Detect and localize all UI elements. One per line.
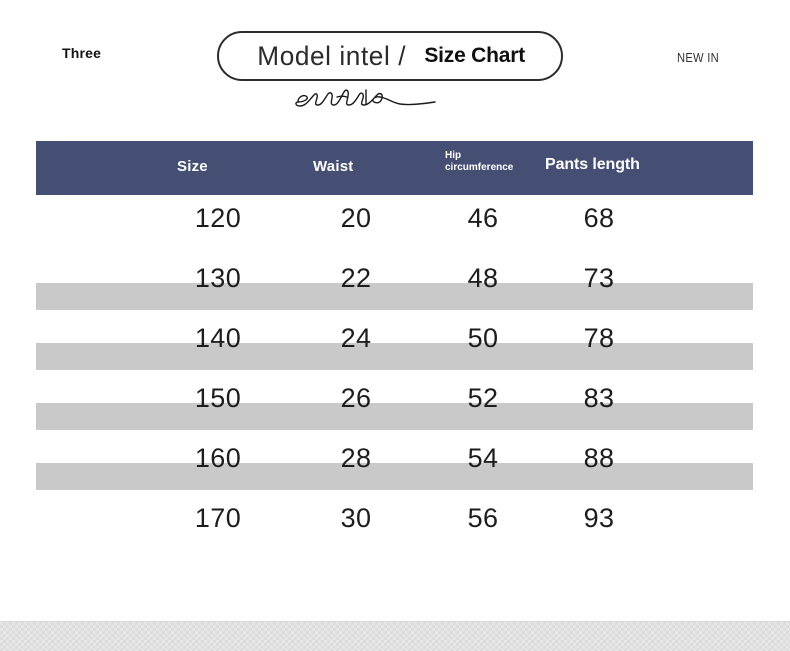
title-pill-badge: Model intel / Size Chart xyxy=(217,31,563,81)
cell-hip-circumference: 48 xyxy=(448,263,518,294)
cell-waist: 28 xyxy=(321,443,391,474)
cell-pants-length: 83 xyxy=(564,383,634,414)
cell-size: 130 xyxy=(170,263,266,294)
column-header-hip-line2: circumference xyxy=(445,162,513,174)
cell-size: 150 xyxy=(170,383,266,414)
size-chart-page: Three Model intel / Size Chart NEW IN Si… xyxy=(0,0,790,651)
cell-pants-length: 93 xyxy=(564,503,634,534)
cell-hip-circumference: 52 xyxy=(448,383,518,414)
cell-pants-length: 78 xyxy=(564,323,634,354)
table-header-row: Size Waist Hip circumference Pants lengt… xyxy=(36,141,753,195)
cell-waist: 20 xyxy=(321,203,391,234)
cell-hip-circumference: 54 xyxy=(448,443,518,474)
title-light-text: Model intel / xyxy=(257,41,406,72)
column-header-size: Size xyxy=(177,158,208,175)
row-cells: 170305693 xyxy=(36,495,753,555)
cell-waist: 30 xyxy=(321,503,391,534)
cell-waist: 22 xyxy=(321,263,391,294)
brand-left-label: Three xyxy=(62,45,101,61)
table-row: 130224873 xyxy=(36,255,753,315)
cell-hip-circumference: 50 xyxy=(448,323,518,354)
cell-waist: 24 xyxy=(321,323,391,354)
table-row: 120204668 xyxy=(36,195,753,255)
row-cells: 130224873 xyxy=(36,255,753,315)
bottom-texture-strip xyxy=(0,621,790,651)
cell-hip-circumference: 56 xyxy=(448,503,518,534)
table-row: 160285488 xyxy=(36,435,753,495)
column-header-pants-length: Pants length xyxy=(545,156,640,174)
row-cells: 160285488 xyxy=(36,435,753,495)
cell-pants-length: 73 xyxy=(564,263,634,294)
cell-pants-length: 68 xyxy=(564,203,634,234)
cell-waist: 26 xyxy=(321,383,391,414)
size-chart-table: Size Waist Hip circumference Pants lengt… xyxy=(36,141,753,595)
table-row: 140245078 xyxy=(36,315,753,375)
cell-pants-length: 88 xyxy=(564,443,634,474)
new-in-label: NEW IN xyxy=(677,50,719,65)
row-cells: 140245078 xyxy=(36,315,753,375)
handwritten-signature xyxy=(292,83,502,115)
page-title: Size Chart xyxy=(424,44,525,68)
table-row: 170305693 xyxy=(36,495,753,555)
cell-size: 120 xyxy=(170,203,266,234)
cell-hip-circumference: 46 xyxy=(448,203,518,234)
column-header-hip-line1: Hip xyxy=(445,150,513,162)
page-header: Three Model intel / Size Chart NEW IN xyxy=(0,0,790,125)
table-body: 1202046681302248731402450781502652831602… xyxy=(36,195,753,595)
column-header-hip-circumference: Hip circumference xyxy=(445,150,513,174)
table-row: 150265283 xyxy=(36,375,753,435)
row-cells: 120204668 xyxy=(36,195,753,255)
cell-size: 170 xyxy=(170,503,266,534)
cell-size: 140 xyxy=(170,323,266,354)
cell-size: 160 xyxy=(170,443,266,474)
column-header-waist: Waist xyxy=(313,158,353,175)
row-cells: 150265283 xyxy=(36,375,753,435)
